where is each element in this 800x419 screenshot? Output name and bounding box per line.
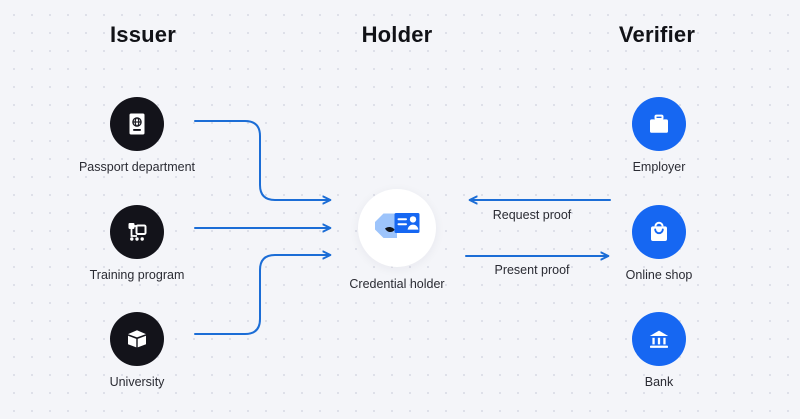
hand-holding-id-card-icon <box>371 205 423 251</box>
node-employer[interactable]: Employer <box>584 97 734 174</box>
passport-department-icon-circle <box>110 97 164 151</box>
node-training-program[interactable]: Training program <box>62 205 212 282</box>
flow-label-present-proof: Present proof <box>494 263 569 277</box>
node-online-shop[interactable]: Online shop <box>584 205 734 282</box>
bank-building-icon <box>645 325 673 353</box>
node-credential-holder[interactable]: Credential holder <box>307 189 487 291</box>
bank-icon-circle <box>632 312 686 366</box>
node-bank[interactable]: Bank <box>584 312 734 389</box>
node-label-employer: Employer <box>584 160 734 174</box>
node-label-training-program: Training program <box>62 268 212 282</box>
briefcase-icon <box>645 110 673 138</box>
online-shop-icon-circle <box>632 205 686 259</box>
diagram-canvas: Issuer Holder Verifier <box>0 0 800 419</box>
node-label-credential-holder: Credential holder <box>307 277 487 291</box>
node-university[interactable]: University <box>62 312 212 389</box>
training-program-icon-circle <box>110 205 164 259</box>
node-label-online-shop: Online shop <box>584 268 734 282</box>
passport-icon <box>124 111 150 137</box>
flowchart-icon <box>124 219 150 245</box>
node-label-passport-department: Passport department <box>62 160 212 174</box>
credential-holder-icon-circle <box>358 189 436 267</box>
university-icon-circle <box>110 312 164 366</box>
node-label-university: University <box>62 375 212 389</box>
flow-label-request-proof: Request proof <box>493 208 572 222</box>
node-label-bank: Bank <box>584 375 734 389</box>
graduation-book-icon <box>123 325 151 353</box>
node-passport-department[interactable]: Passport department <box>62 97 212 174</box>
employer-icon-circle <box>632 97 686 151</box>
shopping-bag-icon <box>645 218 673 246</box>
